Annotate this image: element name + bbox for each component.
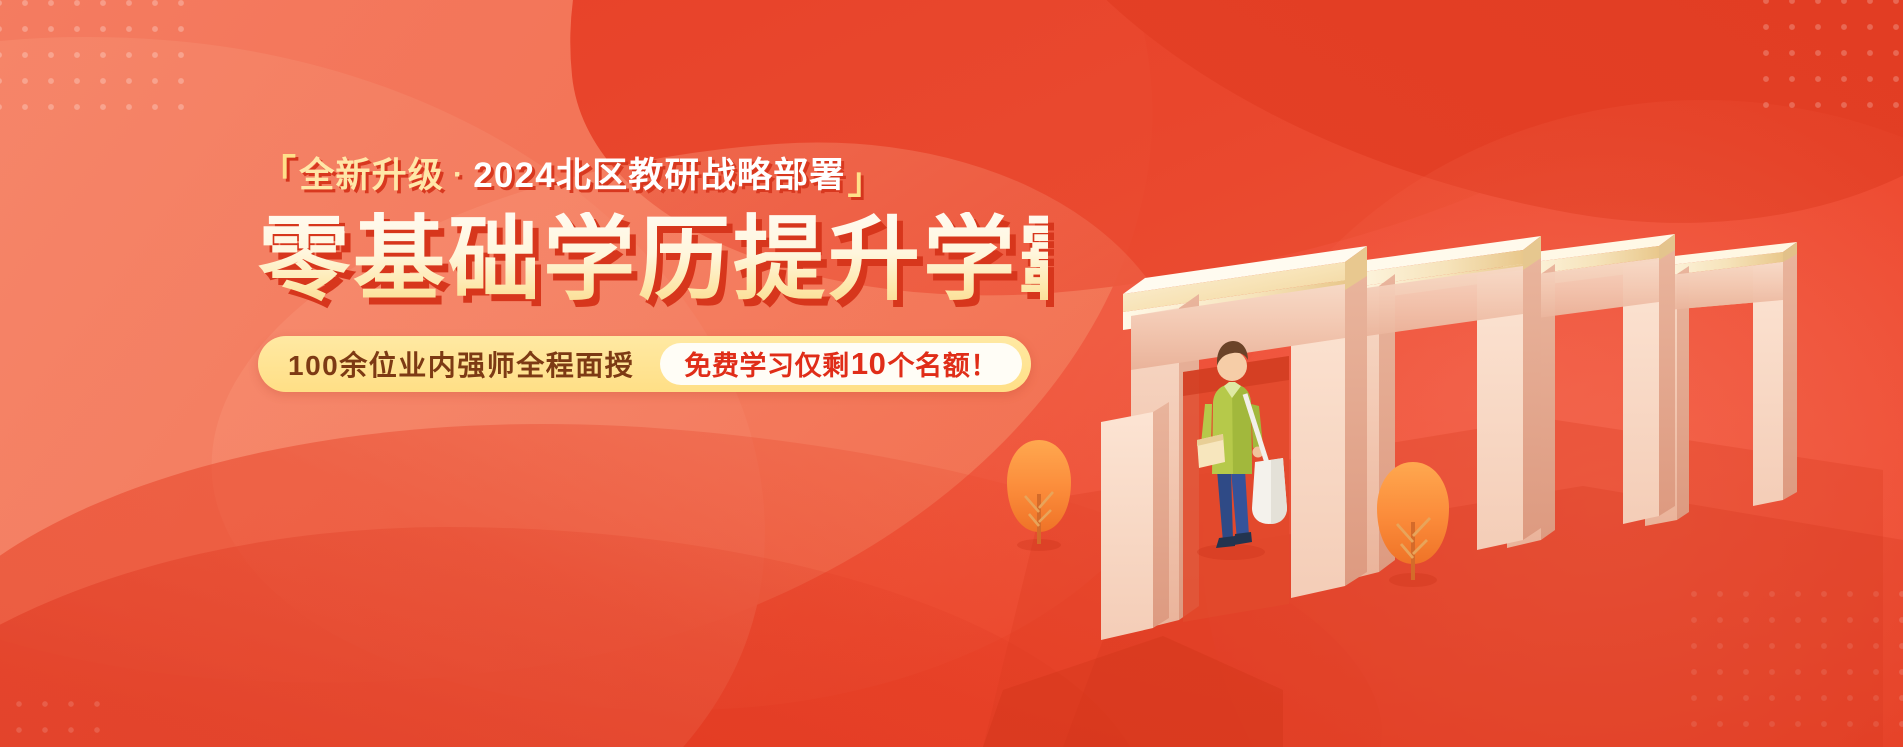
dot-pattern-bottom-left	[0, 691, 100, 747]
banner-title: 零基础学历提升学霸班	[258, 212, 1048, 310]
banner-copy: 「 全新升级 · 2024北区教研战略部署 」 零基础学历提升学霸班 100余位…	[258, 152, 1048, 392]
bracket-open-icon: 「	[260, 155, 297, 191]
badge-offer-count: 10	[850, 346, 888, 382]
subtitle-rest: 2024北区教研战略部署	[473, 158, 845, 193]
banner-badge-row: 100余位业内强师全程面授 免费学习仅剩 10 个名额！	[258, 336, 1031, 392]
dot-pattern-top-left	[0, 0, 196, 120]
subtitle-highlight: 全新升级	[299, 158, 444, 193]
badge-feature-text: 100余位业内强师全程面授	[288, 344, 660, 384]
promo-banner: 「 全新升级 · 2024北区教研战略部署 」 零基础学历提升学霸班 100余位…	[0, 0, 1903, 747]
badge-offer-suffix: 个名额！	[888, 344, 998, 383]
background-wave-bottom-dark	[0, 527, 1150, 747]
subtitle-separator: ·	[444, 160, 473, 190]
badge-offer-pill: 免费学习仅剩 10 个名额！	[660, 343, 1022, 385]
illustration-books-and-student	[983, 0, 1903, 747]
badge-offer-prefix: 免费学习仅剩	[684, 344, 850, 383]
banner-subtitle: 「 全新升级 · 2024北区教研战略部署 」	[258, 152, 1048, 198]
bracket-close-icon: 」	[847, 163, 884, 199]
